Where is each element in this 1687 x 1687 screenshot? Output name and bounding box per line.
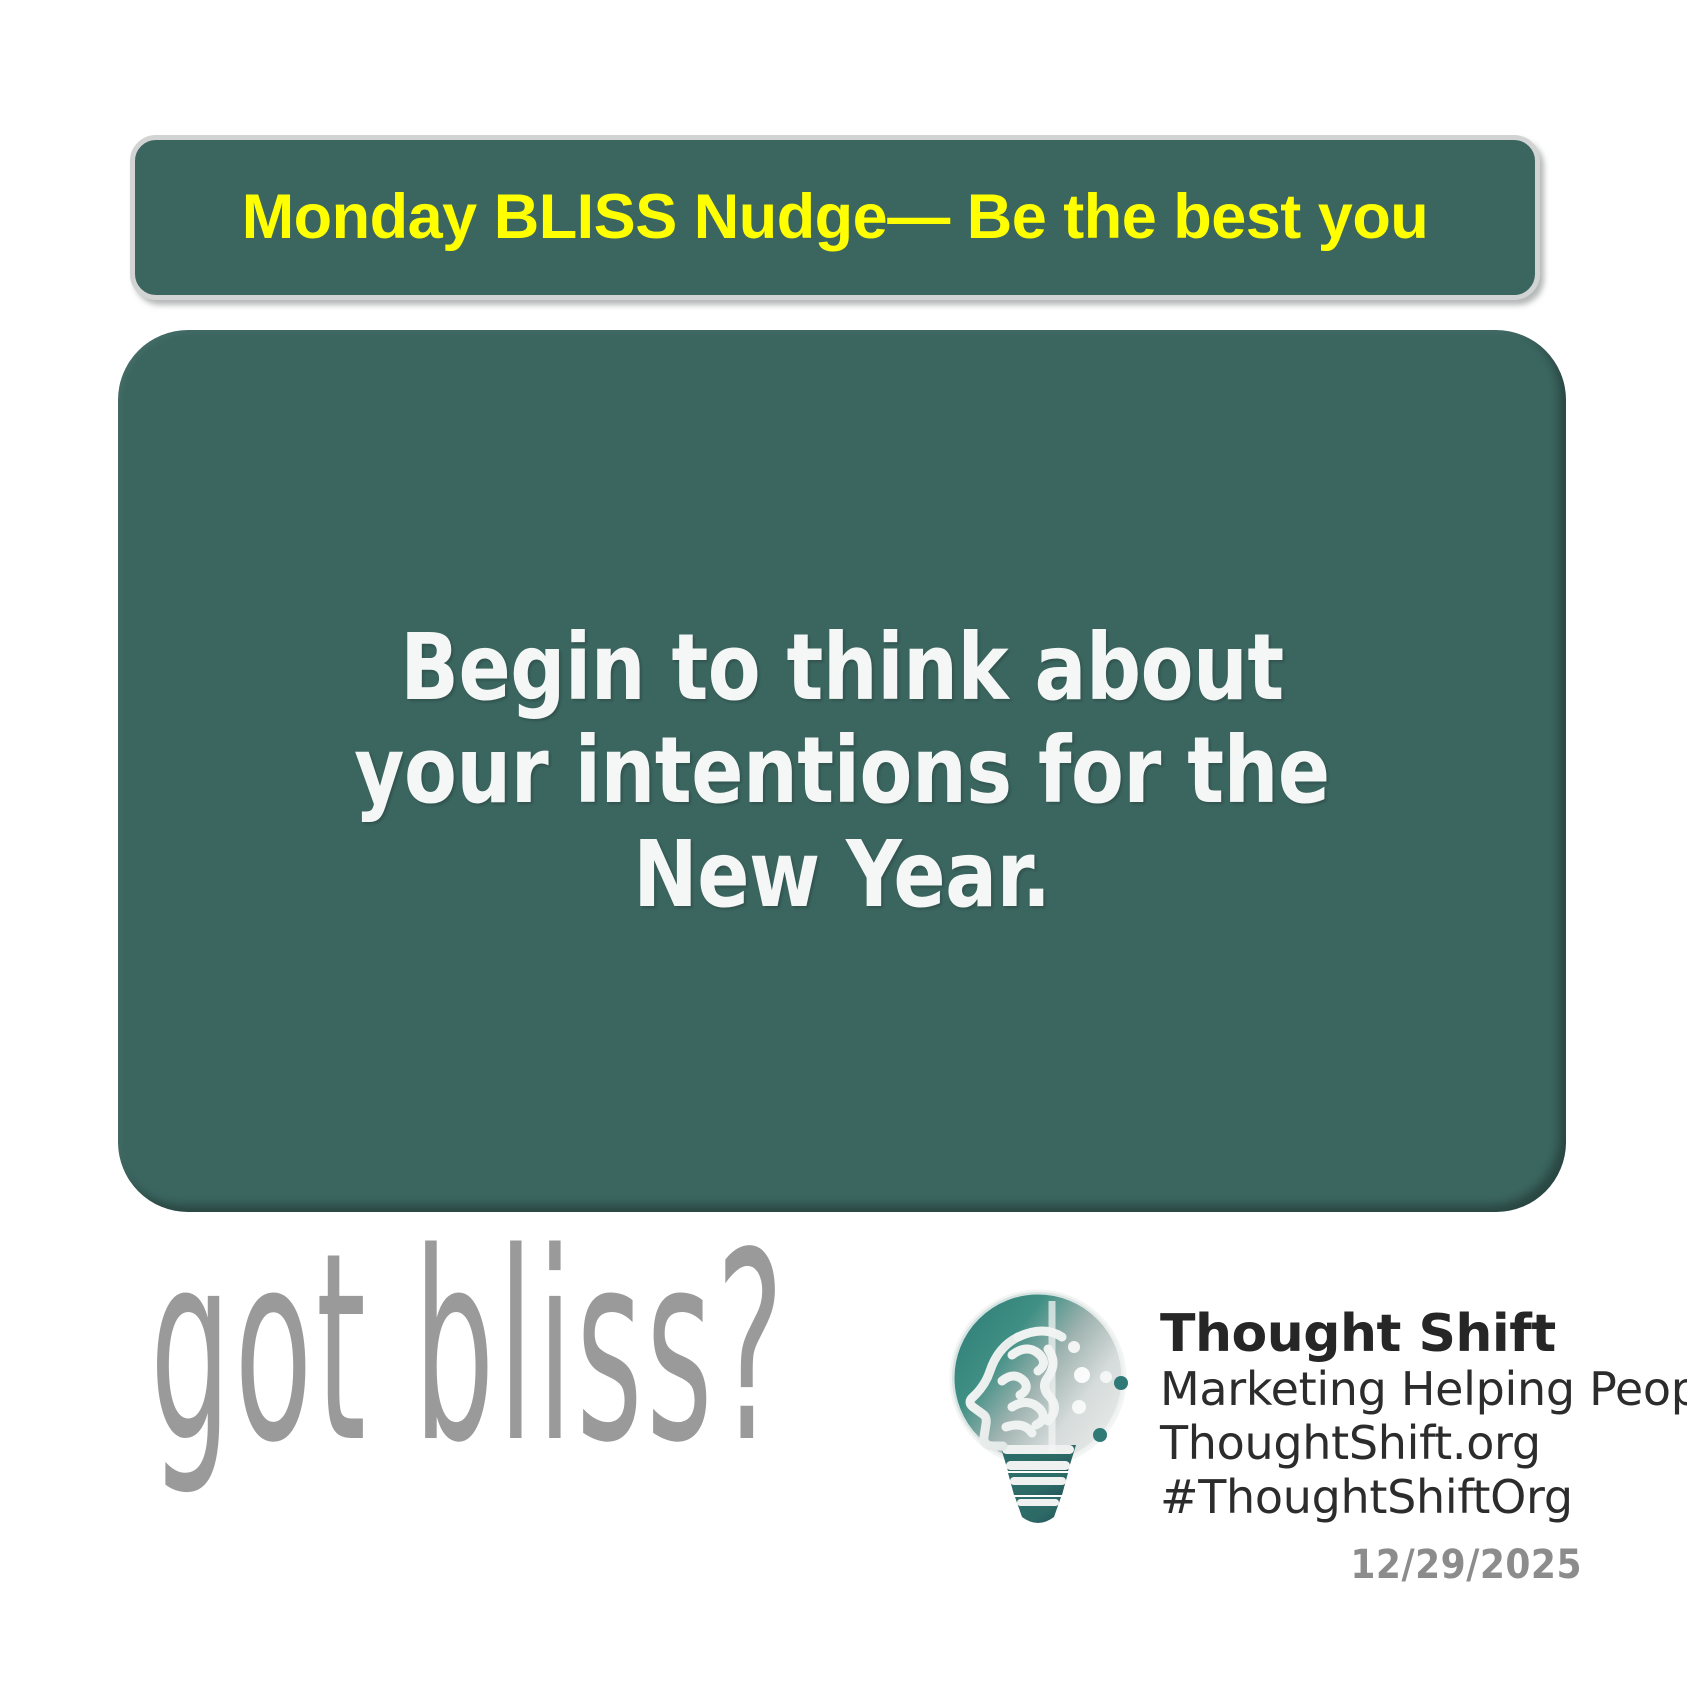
page-title: Monday BLISS Nudge— Be the best you — [242, 186, 1429, 249]
brand-name: Thought Shift — [1160, 1307, 1687, 1362]
title-banner: Monday BLISS Nudge— Be the best you — [130, 135, 1540, 300]
message-panel: Begin to think about your intentions for… — [118, 330, 1566, 1212]
slide-canvas: Monday BLISS Nudge— Be the best you Begi… — [0, 0, 1687, 1687]
brand-tagline-1: Marketing Helping People — [1160, 1362, 1687, 1416]
brand-lockup: Thought Shift Marketing Helping People T… — [940, 1285, 1687, 1535]
brand-hashtag: #ThoughtShiftOrg — [1160, 1470, 1687, 1524]
lightbulb-brain-icon — [940, 1285, 1136, 1535]
brand-text-block: Thought Shift Marketing Helping People T… — [1160, 1285, 1687, 1524]
brand-website: ThoughtShift.org — [1160, 1416, 1687, 1470]
date-stamp: 12/29/2025 — [1350, 1542, 1582, 1588]
got-bliss-wordmark: got bliss? — [150, 1218, 787, 1478]
message-text: Begin to think about your intentions for… — [265, 616, 1418, 925]
